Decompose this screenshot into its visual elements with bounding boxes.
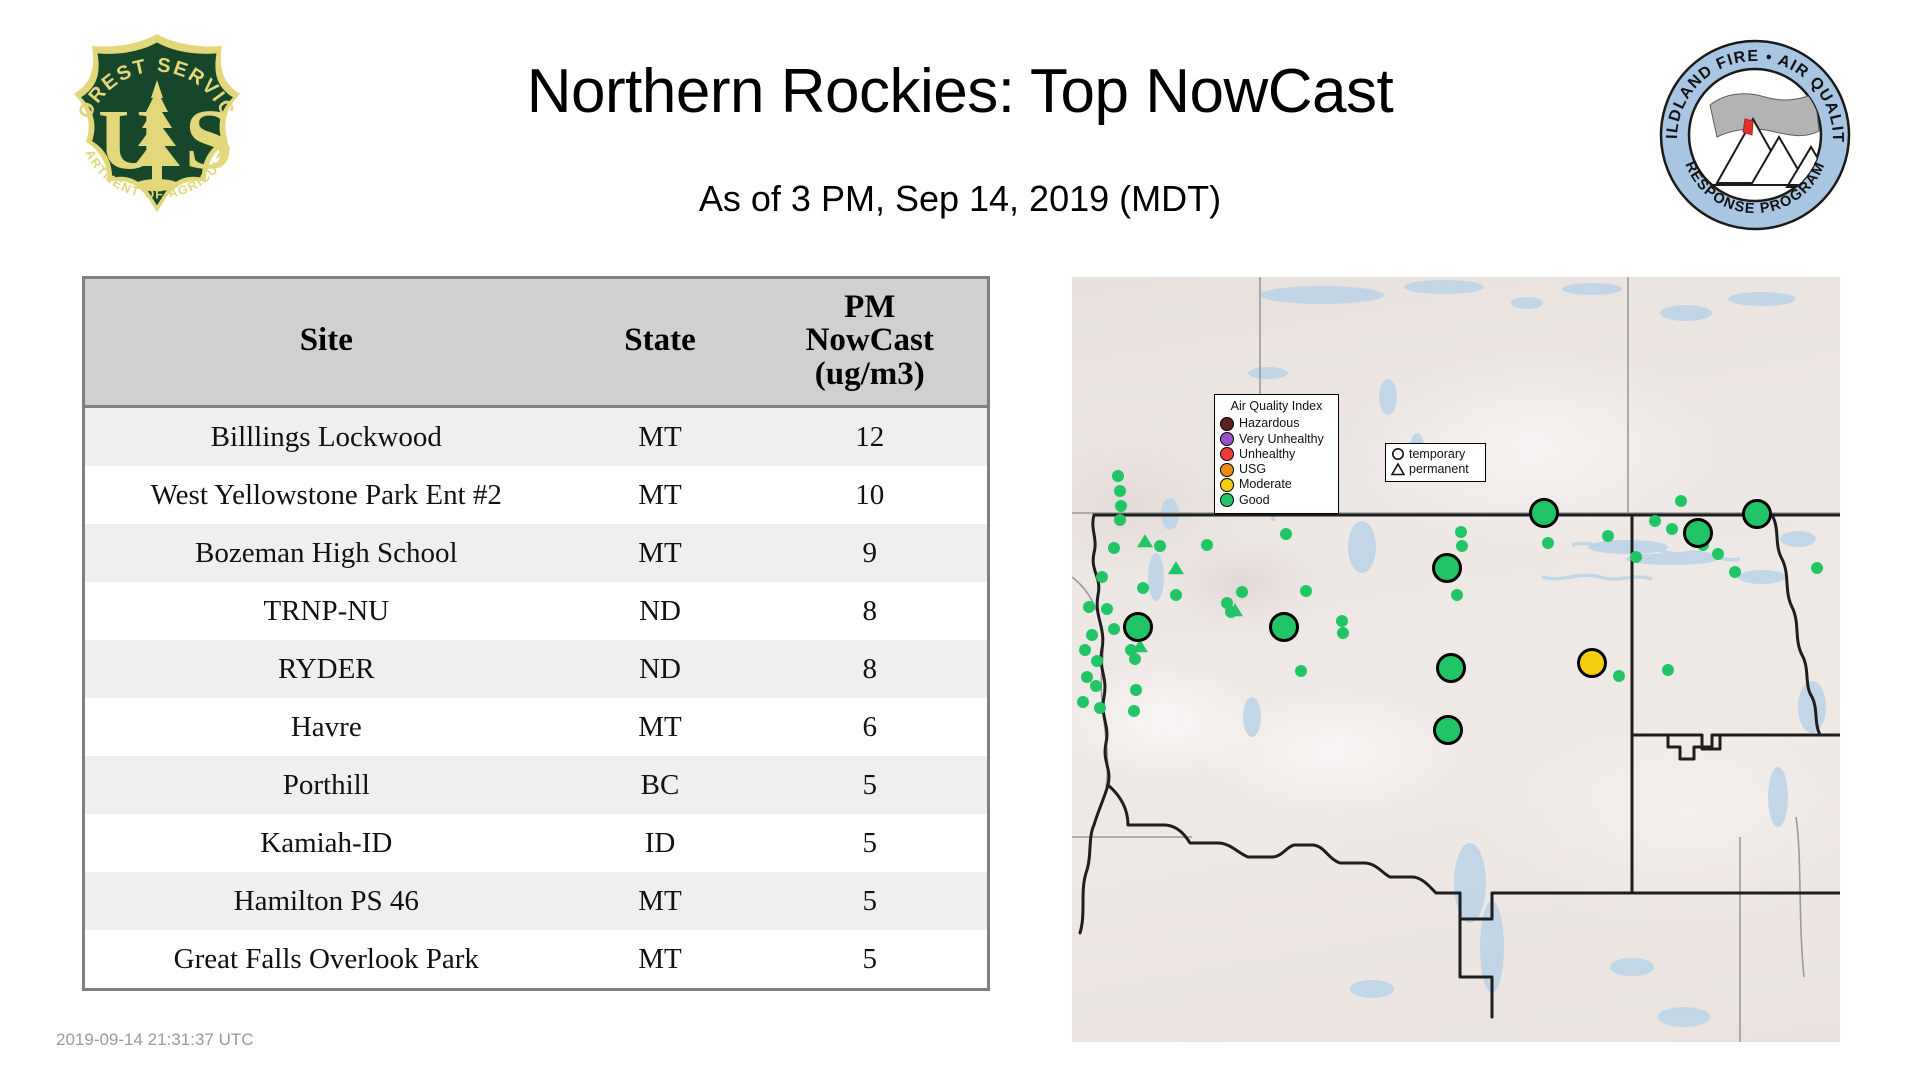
aqi-legend-swatch (1220, 417, 1234, 431)
monitor-dot-small[interactable] (1295, 665, 1307, 677)
legend-permanent-row: permanent (1391, 462, 1480, 477)
monitor-dot-small[interactable] (1456, 540, 1468, 552)
aqi-legend-swatch (1220, 463, 1234, 477)
aqi-legend-label: USG (1239, 462, 1266, 477)
monitor-dot-small[interactable] (1451, 589, 1463, 601)
monitor-dot-small[interactable] (1613, 670, 1625, 682)
monitor-dot-small[interactable] (1170, 589, 1182, 601)
monitor-dot-small[interactable] (1542, 537, 1554, 549)
table-row: Bozeman High SchoolMT9 (85, 524, 987, 582)
monitor-dot-small[interactable] (1112, 470, 1124, 482)
state-cell: MT (568, 698, 753, 756)
monitor-dot-small[interactable] (1128, 705, 1140, 717)
monitor-dot-small[interactable] (1079, 644, 1091, 656)
site-cell: RYDER (85, 640, 568, 698)
column-header-pm-line3: (ug/m3) (756, 358, 983, 392)
nowcast-table-container: Site State PM NowCast (ug/m3) Billlings … (82, 276, 990, 991)
value-cell: 9 (752, 524, 987, 582)
state-cell: ND (568, 582, 753, 640)
site-cell: Billlings Lockwood (85, 407, 568, 467)
monitor-dot-large[interactable] (1529, 498, 1559, 528)
aqi-legend: Air Quality Index HazardousVery Unhealth… (1214, 394, 1339, 514)
monitor-dot-small[interactable] (1130, 684, 1142, 696)
map-monitor-markers (1072, 277, 1840, 1042)
value-cell: 5 (752, 930, 987, 988)
usfs-logo: FOREST SERVICE DEPARTMENT OF AGRICULTURE… (52, 28, 262, 248)
aqi-legend-title: Air Quality Index (1220, 399, 1333, 414)
aqi-legend-row: USG (1220, 462, 1333, 477)
table-header-row: Site State PM NowCast (ug/m3) (85, 279, 987, 407)
aqi-legend-label: Moderate (1239, 477, 1292, 492)
state-cell: MT (568, 872, 753, 930)
monitor-dot-small[interactable] (1094, 702, 1106, 714)
site-cell: Bozeman High School (85, 524, 568, 582)
legend-temporary-label: temporary (1409, 447, 1465, 462)
page-subtitle: As of 3 PM, Sep 14, 2019 (MDT) (300, 178, 1620, 220)
aqi-legend-row: Good (1220, 493, 1333, 508)
value-cell: 5 (752, 872, 987, 930)
state-cell: MT (568, 930, 753, 988)
table-body: Billlings LockwoodMT12West Yellowstone P… (85, 407, 987, 989)
aqi-legend-row: Moderate (1220, 477, 1333, 492)
table-row: TRNP-NUND8 (85, 582, 987, 640)
monitor-dot-small[interactable] (1091, 655, 1103, 667)
nowcast-table: Site State PM NowCast (ug/m3) Billlings … (85, 279, 987, 988)
aqi-legend-items: HazardousVery UnhealthyUnhealthyUSGModer… (1220, 416, 1333, 508)
aqi-legend-label: Hazardous (1239, 416, 1299, 431)
monitor-dot-large[interactable] (1742, 499, 1772, 529)
page-title: Northern Rockies: Top NowCast (300, 56, 1620, 127)
column-header-site: Site (85, 279, 568, 407)
monitor-dot-small[interactable] (1712, 548, 1724, 560)
monitor-dot-small[interactable] (1083, 601, 1095, 613)
monitor-dot-small[interactable] (1455, 526, 1467, 538)
table-row: Kamiah-IDID5 (85, 814, 987, 872)
monitor-dot-small[interactable] (1602, 530, 1614, 542)
table-row: RYDERND8 (85, 640, 987, 698)
monitor-dot-small[interactable] (1077, 696, 1089, 708)
legend-permanent-label: permanent (1409, 462, 1469, 477)
wfaqrp-seal-logo: WILDLAND FIRE • AIR QUALITY RESPONSE PRO… (1655, 35, 1855, 235)
monitor-dot-small[interactable] (1630, 551, 1642, 563)
monitor-dot-small[interactable] (1114, 514, 1126, 526)
aqi-legend-swatch (1220, 432, 1234, 446)
value-cell: 8 (752, 582, 987, 640)
monitor-dot-small[interactable] (1115, 500, 1127, 512)
monitor-dot-small[interactable] (1101, 603, 1113, 615)
monitor-dot-small[interactable] (1337, 627, 1349, 639)
monitor-dot-small[interactable] (1137, 582, 1149, 594)
monitor-dot-large[interactable] (1433, 715, 1463, 745)
monitor-dot-small[interactable] (1729, 566, 1741, 578)
monitor-symbol-legend: temporary permanent (1385, 443, 1486, 482)
aqi-legend-swatch (1220, 493, 1234, 507)
monitor-dot-small[interactable] (1236, 586, 1248, 598)
monitor-dot-large[interactable] (1269, 612, 1299, 642)
monitor-dot-small[interactable] (1108, 623, 1120, 635)
aqi-legend-row: Very Unhealthy (1220, 432, 1333, 447)
site-cell: Great Falls Overlook Park (85, 930, 568, 988)
monitor-dot-small[interactable] (1096, 571, 1108, 583)
triangle-outline-icon (1391, 462, 1405, 477)
value-cell: 10 (752, 466, 987, 524)
state-cell: ND (568, 640, 753, 698)
aqi-legend-label: Very Unhealthy (1239, 432, 1324, 447)
column-header-pm-line2: NowCast (756, 324, 983, 358)
monitor-dot-small[interactable] (1108, 542, 1120, 554)
column-header-pm-nowcast: PM NowCast (ug/m3) (752, 279, 987, 407)
air-quality-map[interactable] (1072, 277, 1840, 1042)
circle-outline-icon (1391, 447, 1405, 462)
monitor-dot-small[interactable] (1114, 485, 1126, 497)
legend-temporary-row: temporary (1391, 447, 1480, 462)
state-cell: MT (568, 407, 753, 467)
site-cell: Hamilton PS 46 (85, 872, 568, 930)
state-cell: MT (568, 524, 753, 582)
state-cell: BC (568, 756, 753, 814)
value-cell: 5 (752, 814, 987, 872)
table-row: Hamilton PS 46MT5 (85, 872, 987, 930)
site-cell: Porthill (85, 756, 568, 814)
column-header-state: State (568, 279, 753, 407)
table-row: HavreMT6 (85, 698, 987, 756)
value-cell: 6 (752, 698, 987, 756)
monitor-dot-small[interactable] (1154, 540, 1166, 552)
aqi-legend-label: Unhealthy (1239, 447, 1295, 462)
site-cell: TRNP-NU (85, 582, 568, 640)
monitor-dot-large[interactable] (1432, 553, 1462, 583)
monitor-dot-large[interactable] (1436, 653, 1466, 683)
monitor-dot-small[interactable] (1300, 585, 1312, 597)
value-cell: 8 (752, 640, 987, 698)
table-row: West Yellowstone Park Ent #2MT10 (85, 466, 987, 524)
footer-timestamp: 2019-09-14 21:31:37 UTC (56, 1030, 254, 1050)
aqi-legend-swatch (1220, 478, 1234, 492)
monitor-dot-large[interactable] (1577, 648, 1607, 678)
monitor-dot-small[interactable] (1090, 680, 1102, 692)
monitor-dot-small[interactable] (1662, 664, 1674, 676)
monitor-dot-small[interactable] (1666, 523, 1678, 535)
monitor-triangle-permanent[interactable] (1137, 535, 1153, 548)
column-header-pm-line1: PM (756, 291, 983, 325)
value-cell: 12 (752, 407, 987, 467)
monitor-dot-small[interactable] (1280, 528, 1292, 540)
monitor-dot-large[interactable] (1123, 612, 1153, 642)
monitor-dot-small[interactable] (1086, 629, 1098, 641)
site-cell: West Yellowstone Park Ent #2 (85, 466, 568, 524)
monitor-dot-small[interactable] (1201, 539, 1213, 551)
state-cell: MT (568, 466, 753, 524)
table-row: Billlings LockwoodMT12 (85, 407, 987, 467)
aqi-legend-swatch (1220, 447, 1234, 461)
monitor-dot-small[interactable] (1649, 515, 1661, 527)
svg-text:S: S (185, 91, 233, 187)
table-row: Great Falls Overlook ParkMT5 (85, 930, 987, 988)
monitor-triangle-permanent[interactable] (1227, 603, 1243, 616)
monitor-triangle-permanent[interactable] (1168, 561, 1184, 574)
aqi-legend-row: Unhealthy (1220, 447, 1333, 462)
aqi-legend-label: Good (1239, 493, 1270, 508)
table-row: PorthillBC5 (85, 756, 987, 814)
monitor-dot-small[interactable] (1336, 615, 1348, 627)
site-cell: Havre (85, 698, 568, 756)
site-cell: Kamiah-ID (85, 814, 568, 872)
monitor-dot-small[interactable] (1811, 562, 1823, 574)
monitor-dot-small[interactable] (1675, 495, 1687, 507)
value-cell: 5 (752, 756, 987, 814)
state-cell: ID (568, 814, 753, 872)
monitor-dot-small[interactable] (1129, 653, 1141, 665)
aqi-legend-row: Hazardous (1220, 416, 1333, 431)
monitor-dot-large[interactable] (1683, 518, 1713, 548)
